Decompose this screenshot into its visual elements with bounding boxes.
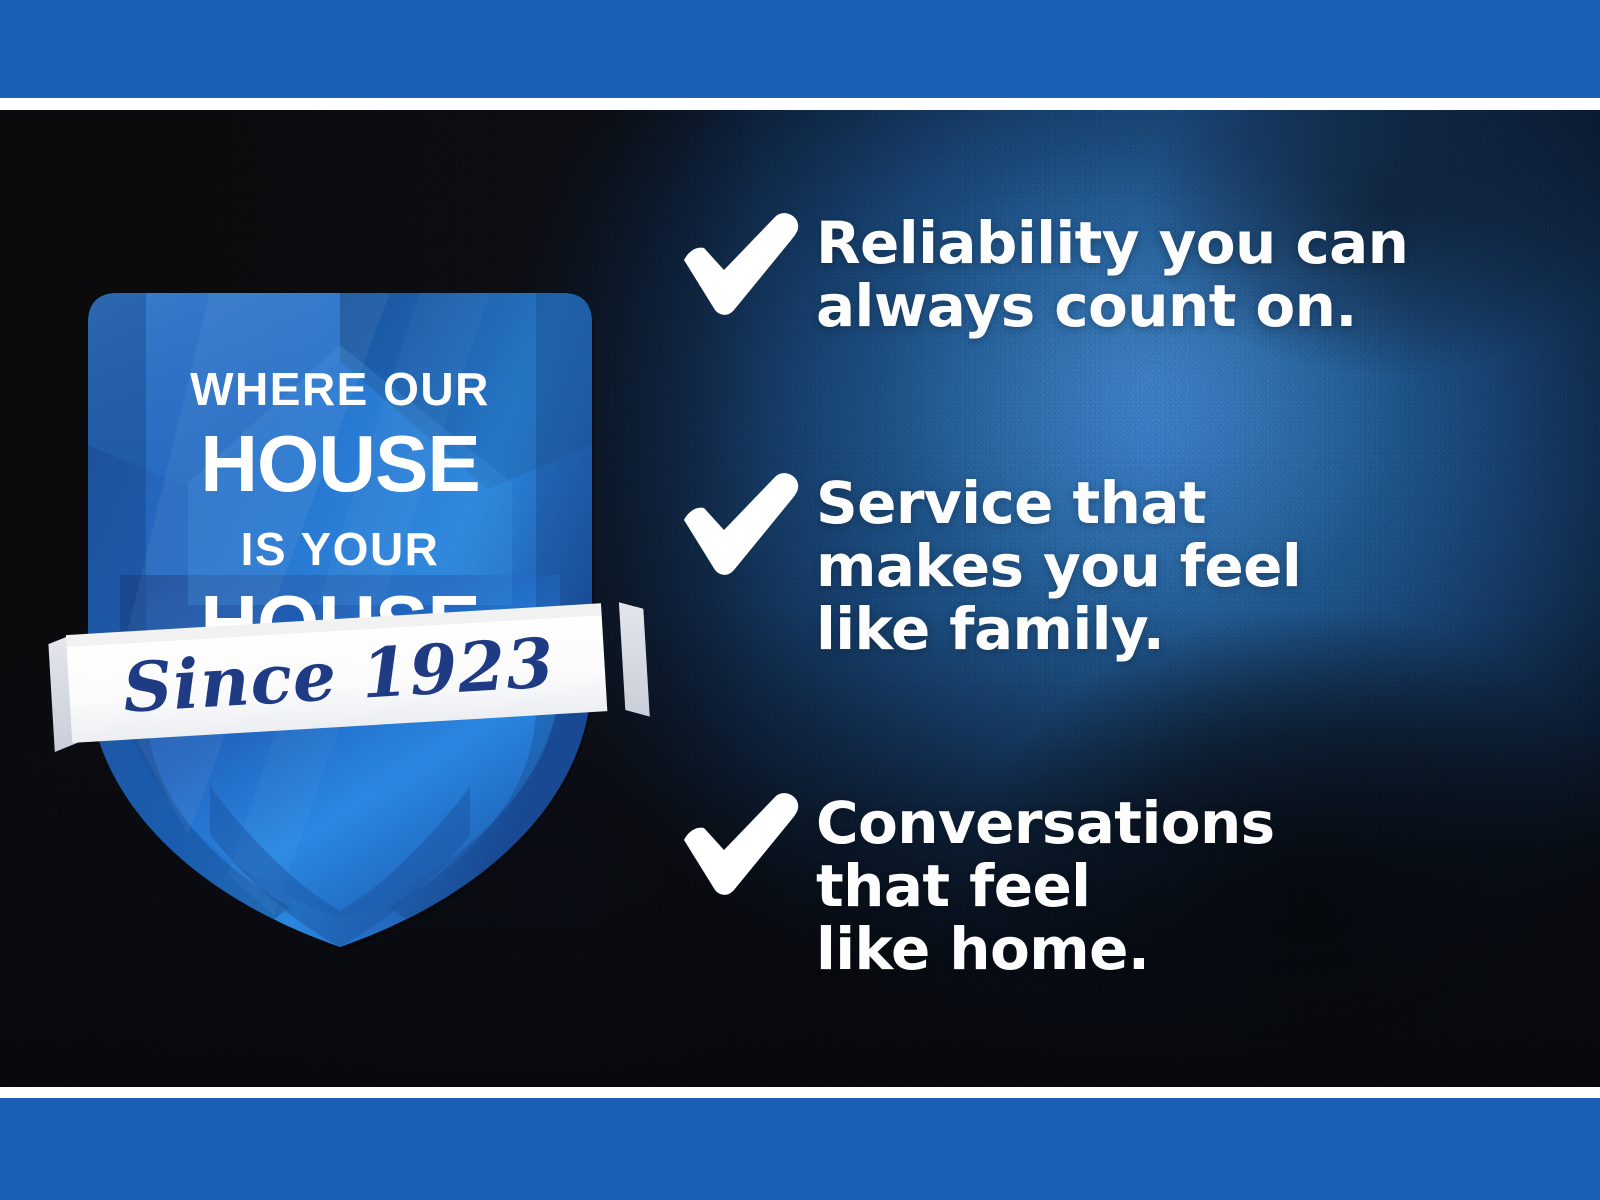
list-item-text: Reliability you can always count on. <box>816 208 1408 338</box>
promo-graphic: WHERE OUR HOUSE IS YOUR HOUSE Since 1923 <box>0 0 1600 1200</box>
top-brand-bar <box>0 0 1600 98</box>
shield-line-1: WHERE OUR <box>190 363 490 415</box>
benefits-list: Reliability you can always count on. Ser… <box>672 110 1552 1087</box>
list-item: Conversations that feel like home. <box>672 788 1275 982</box>
bottom-brand-bar <box>0 1098 1600 1200</box>
checkmark-icon <box>672 468 804 580</box>
list-item-text: Service that makes you feel like family. <box>816 468 1301 662</box>
list-item: Service that makes you feel like family. <box>672 468 1301 662</box>
checkmark-icon <box>672 208 804 320</box>
checkmark-icon <box>672 788 804 900</box>
shield-line-3: IS YOUR <box>241 523 440 575</box>
shield-line-2: HOUSE <box>200 419 480 508</box>
list-item: Reliability you can always count on. <box>672 208 1408 338</box>
list-item-text: Conversations that feel like home. <box>816 788 1275 982</box>
shield-badge: WHERE OUR HOUSE IS YOUR HOUSE Since 1923 <box>60 275 620 955</box>
